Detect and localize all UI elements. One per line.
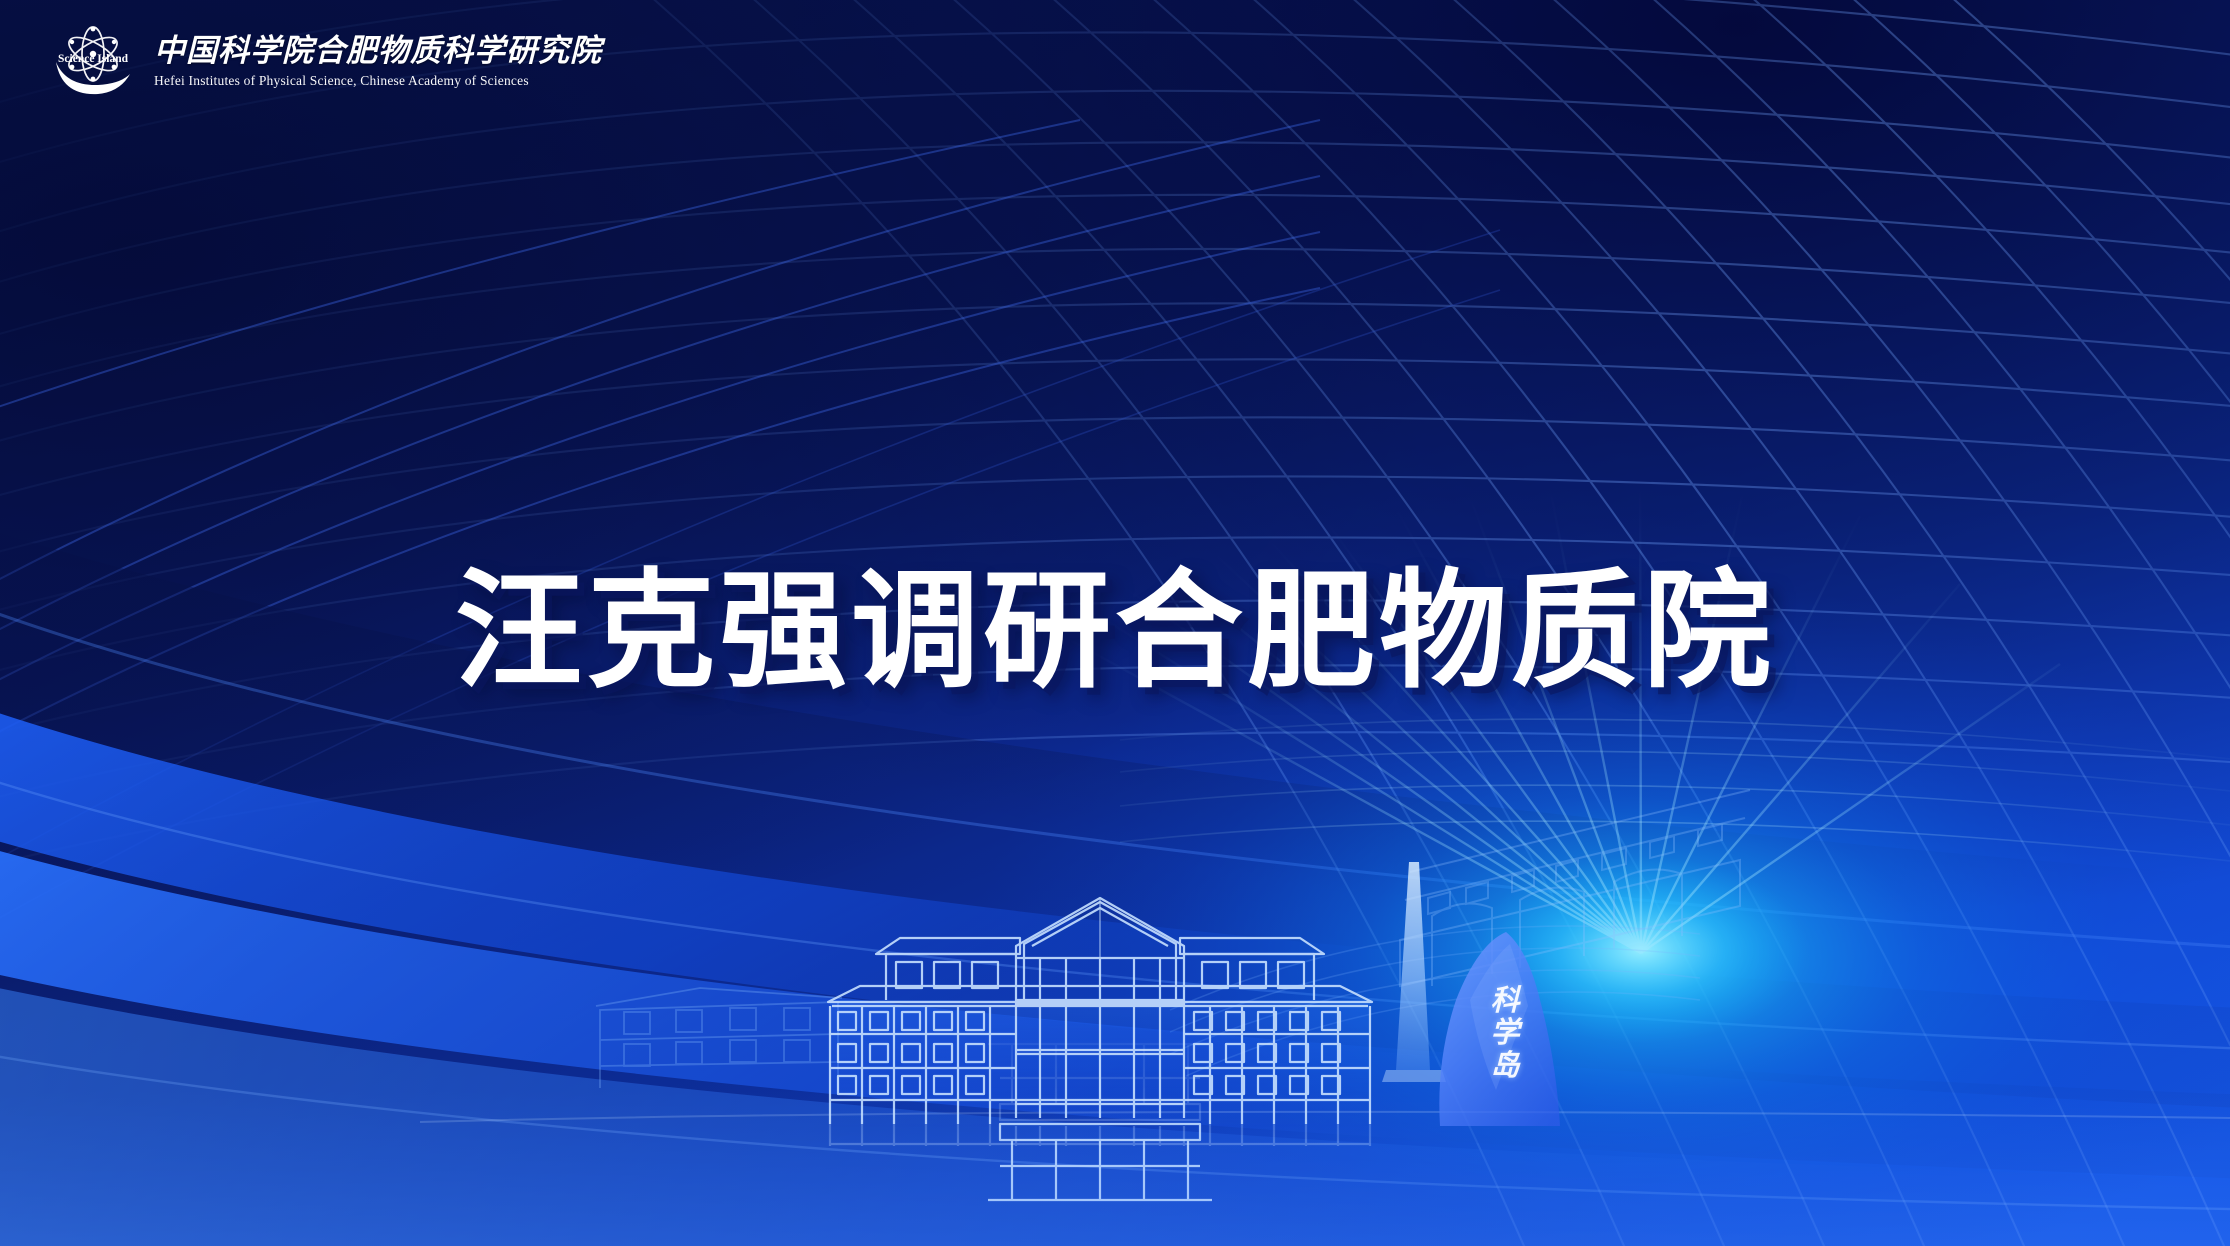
logo-wordmark: 中国科学院合肥物质科学研究院 Hefei Institutes of Physi… — [154, 33, 602, 89]
science-island-atom-logo: Science Island — [46, 22, 140, 100]
presentation-slide: 科 学 岛 — [0, 0, 2230, 1246]
logo-mark-label: Science Island — [58, 53, 129, 65]
slide-title: 汪克强调研合肥物质院 — [0, 568, 2230, 696]
logo-english-name: Hefei Institutes of Physical Science, Ch… — [154, 73, 602, 89]
institute-logo: Science Island 中国科学院合肥物质科学研究院 Hefei Inst… — [46, 18, 566, 104]
logo-chinese-name: 中国科学院合肥物质科学研究院 — [154, 35, 602, 68]
